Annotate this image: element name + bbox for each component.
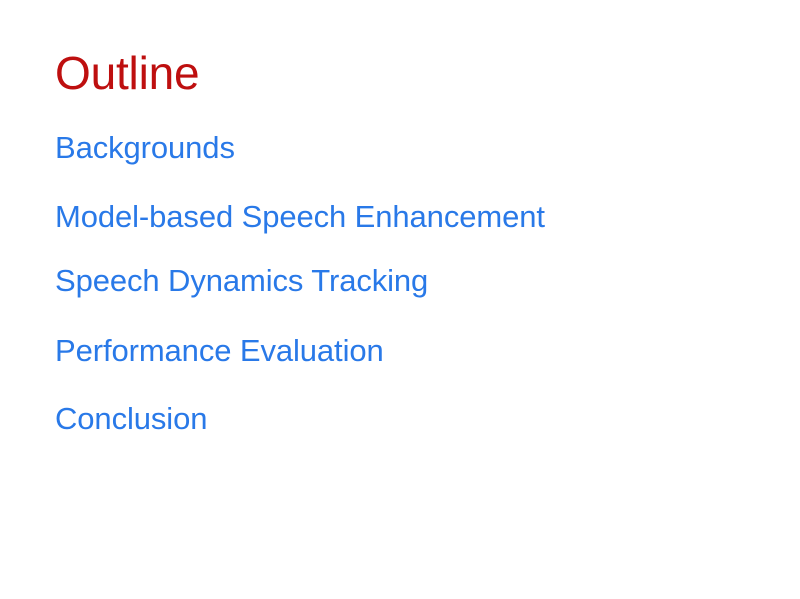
- page-title: Outline: [55, 46, 199, 100]
- list-item-backgrounds[interactable]: Backgrounds: [55, 129, 755, 167]
- list-item-performance-evaluation[interactable]: Performance Evaluation: [55, 332, 755, 370]
- outline-list: Backgrounds Model-based Speech Enhanceme…: [55, 129, 755, 438]
- slide-canvas: Outline Backgrounds Model-based Speech E…: [0, 0, 800, 599]
- list-item-conclusion[interactable]: Conclusion: [55, 400, 755, 438]
- list-item-speech-dynamics-tracking[interactable]: Speech Dynamics Tracking: [55, 262, 755, 300]
- list-item-model-based-speech-enhancement[interactable]: Model-based Speech Enhancement: [55, 198, 755, 236]
